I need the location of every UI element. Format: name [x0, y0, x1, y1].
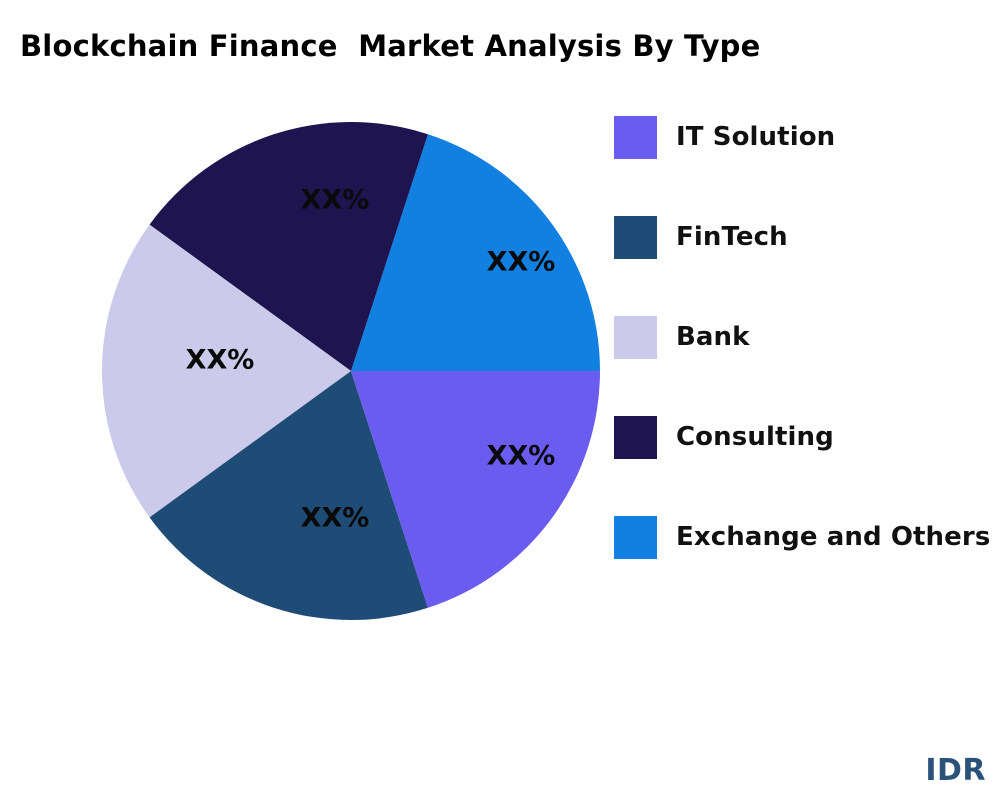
legend-item-bank[interactable]: Bank: [614, 314, 750, 360]
pie-slice-label: XX%: [487, 247, 556, 278]
legend-item-consulting[interactable]: Consulting: [614, 414, 834, 460]
legend-item-fintech[interactable]: FinTech: [614, 214, 788, 260]
legend-swatch-fintech: [614, 216, 657, 259]
legend-swatch-exchange-and-others: [614, 516, 657, 559]
legend-label-bank: Bank: [676, 322, 750, 352]
pie-slice-label: XX%: [301, 185, 370, 216]
legend-label-consulting: Consulting: [676, 422, 834, 452]
pie-chart-svg: XX%XX%XX%XX%XX%: [102, 122, 600, 620]
pie-slice-label: XX%: [301, 503, 370, 534]
chart-canvas: Blockchain Finance Market Analysis By Ty…: [0, 0, 1000, 800]
idr-watermark: IDR: [925, 753, 986, 788]
legend-item-it-solution[interactable]: IT Solution: [614, 114, 835, 160]
legend-swatch-it-solution: [614, 116, 657, 159]
legend-swatch-consulting: [614, 416, 657, 459]
page-title: Blockchain Finance Market Analysis By Ty…: [20, 26, 761, 66]
legend-swatch-bank: [614, 316, 657, 359]
legend-item-exchange-and-others[interactable]: Exchange and Others: [614, 514, 990, 560]
legend-label-it-solution: IT Solution: [676, 122, 835, 152]
pie-slice-label: XX%: [186, 345, 255, 376]
pie-chart: XX%XX%XX%XX%XX%: [102, 122, 600, 620]
pie-slice-label: XX%: [487, 441, 556, 472]
legend-label-exchange-and-others: Exchange and Others: [676, 522, 990, 552]
legend: IT Solution FinTech Bank Consulting Exch…: [614, 114, 1000, 584]
legend-label-fintech: FinTech: [676, 222, 788, 252]
